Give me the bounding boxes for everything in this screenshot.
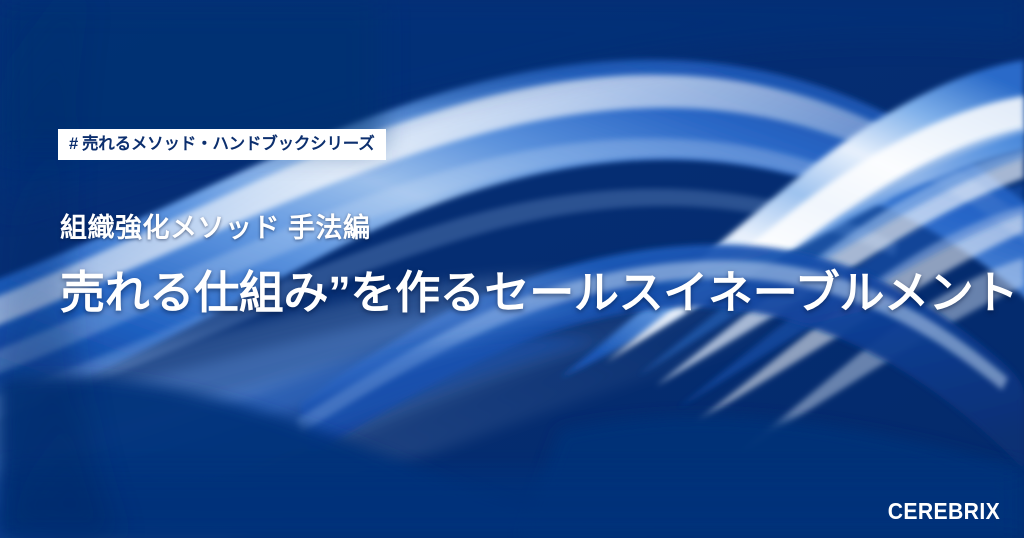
title-slide: # 売れるメソッド・ハンドブックシリーズ 組織強化メソッド 手法編 売れる仕組み… (0, 0, 1024, 538)
series-badge-label: 売れるメソッド・ハンドブックシリーズ (82, 136, 375, 153)
slide-content: # 売れるメソッド・ハンドブックシリーズ 組織強化メソッド 手法編 売れる仕組み… (0, 0, 1024, 538)
slide-title: 売れる仕組み”を作るセールスイネーブルメント (60, 268, 1018, 318)
hash-icon: # (69, 136, 78, 153)
series-badge: # 売れるメソッド・ハンドブックシリーズ (58, 129, 386, 160)
slide-subtitle: 組織強化メソッド 手法編 (60, 206, 371, 245)
cerebrix-logo: CEREBRIX (888, 498, 1000, 525)
